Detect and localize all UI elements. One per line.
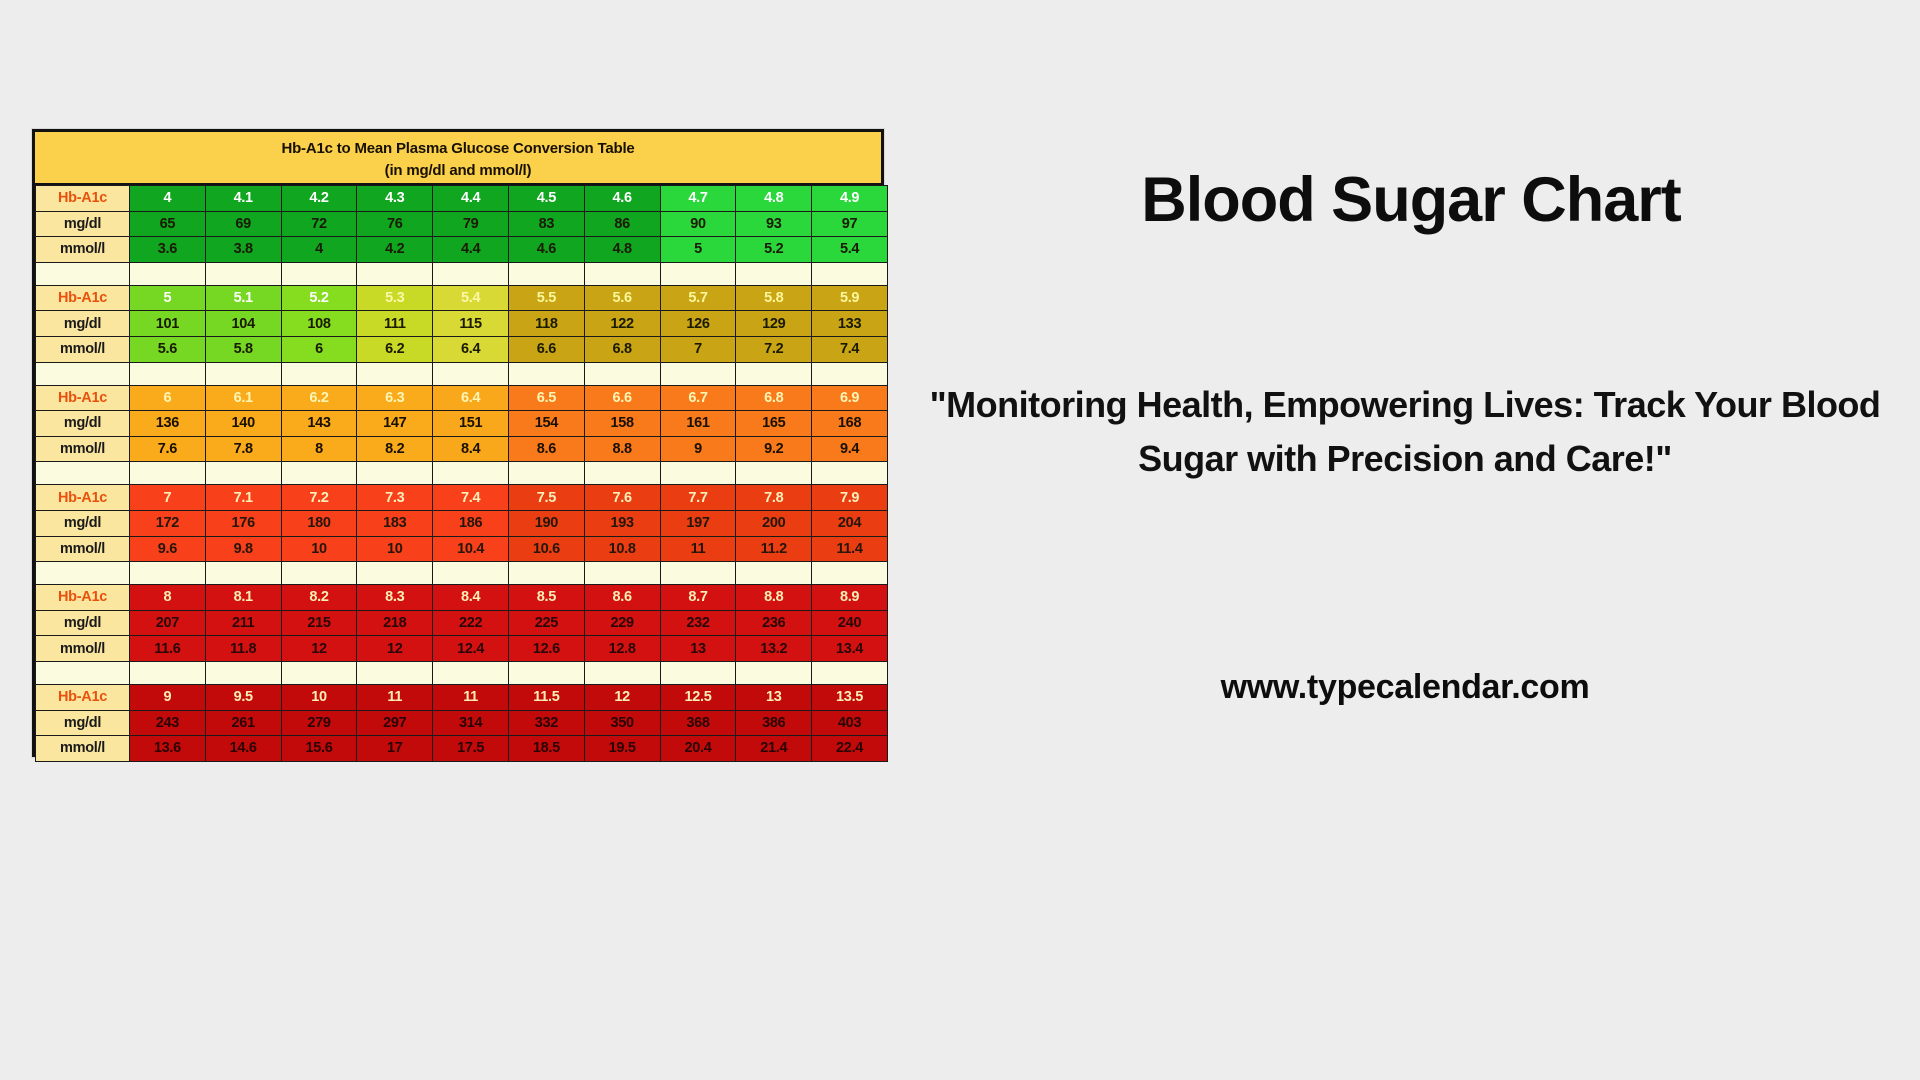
row-label-mmol: mmol/l [36,636,130,662]
cell-mgdl: 225 [508,610,584,636]
spacer-cell [812,262,888,285]
cell-mmol: 11 [660,536,736,562]
cell-a1c: 5.8 [736,285,812,311]
cell-a1c: 13 [736,684,812,710]
table-row: Hb-A1c77.17.27.37.47.57.67.77.87.9 [36,485,888,511]
cell-a1c: 8.8 [736,585,812,611]
spacer-cell [433,262,509,285]
spacer-cell [660,661,736,684]
cell-mgdl: 176 [205,510,281,536]
cell-mgdl: 86 [584,211,660,237]
row-label-mmol: mmol/l [36,336,130,362]
table-row: Hb-A1c66.16.26.36.46.56.66.76.86.9 [36,385,888,411]
cell-mgdl: 76 [357,211,433,237]
cell-mmol: 7 [660,336,736,362]
cell-mgdl: 243 [130,710,206,736]
row-label-mmol: mmol/l [36,237,130,263]
spacer-cell [281,661,357,684]
spacer-cell [736,562,812,585]
conversion-table: Hb-A1c44.14.24.34.44.54.64.74.84.9mg/dl6… [35,185,888,762]
cell-a1c: 5.7 [660,285,736,311]
cell-mmol: 12.6 [508,636,584,662]
spacer-cell [812,362,888,385]
table-row: mmol/l7.67.888.28.48.68.899.29.4 [36,436,888,462]
cell-mgdl: 136 [130,411,206,437]
cell-mmol: 8 [281,436,357,462]
cell-mgdl: 200 [736,510,812,536]
spacer-cell [130,362,206,385]
cell-mgdl: 197 [660,510,736,536]
cell-a1c: 6.3 [357,385,433,411]
cell-a1c: 6.9 [812,385,888,411]
cell-mgdl: 261 [205,710,281,736]
cell-mmol: 8.2 [357,436,433,462]
cell-mmol: 6.4 [433,336,509,362]
spacer-cell [433,661,509,684]
cell-a1c: 8.6 [584,585,660,611]
cell-mgdl: 279 [281,710,357,736]
table-row: mmol/l5.65.866.26.46.66.877.27.4 [36,336,888,362]
spacer-cell [36,661,130,684]
cell-a1c: 6.1 [205,385,281,411]
cell-a1c: 6.5 [508,385,584,411]
spacer-cell [130,562,206,585]
spacer-cell [36,262,130,285]
cell-mgdl: 190 [508,510,584,536]
spacer-cell [281,362,357,385]
cell-mmol: 5.6 [130,336,206,362]
cell-mmol: 12.4 [433,636,509,662]
table-row: Hb-A1c99.510111111.51212.51313.5 [36,684,888,710]
cell-mmol: 10 [281,536,357,562]
cell-mgdl: 193 [584,510,660,536]
spacer-cell [205,661,281,684]
spacer-cell [433,462,509,485]
cell-a1c: 8.3 [357,585,433,611]
cell-mmol: 9.8 [205,536,281,562]
cell-mmol: 11.4 [812,536,888,562]
spacer-cell [433,562,509,585]
cell-mmol: 12.8 [584,636,660,662]
cell-mmol: 6.8 [584,336,660,362]
cell-mgdl: 143 [281,411,357,437]
spacer-cell [812,661,888,684]
cell-mgdl: 83 [508,211,584,237]
spacer-cell [812,462,888,485]
cell-mgdl: 332 [508,710,584,736]
cell-mmol: 7.6 [130,436,206,462]
cell-a1c: 6.4 [433,385,509,411]
cell-mgdl: 165 [736,411,812,437]
cell-mmol: 13 [660,636,736,662]
cell-a1c: 5.1 [205,285,281,311]
cell-mgdl: 172 [130,510,206,536]
spacer-cell [660,362,736,385]
cell-a1c: 9.5 [205,684,281,710]
spacer-cell [357,262,433,285]
cell-mgdl: 115 [433,311,509,337]
table-row: mg/dl243261279297314332350368386403 [36,710,888,736]
cell-mmol: 13.2 [736,636,812,662]
cell-mmol: 5.4 [812,237,888,263]
spacer-cell [205,362,281,385]
cell-mgdl: 97 [812,211,888,237]
cell-mmol: 10.4 [433,536,509,562]
spacer-cell [584,262,660,285]
cell-mgdl: 207 [130,610,206,636]
cell-a1c: 7.3 [357,485,433,511]
cell-a1c: 11 [433,684,509,710]
spacer-cell [205,262,281,285]
cell-mgdl: 218 [357,610,433,636]
cell-mgdl: 90 [660,211,736,237]
cell-a1c: 6.8 [736,385,812,411]
cell-a1c: 5.3 [357,285,433,311]
spacer-cell [433,362,509,385]
cell-a1c: 12 [584,684,660,710]
poster-canvas: Hb-A1c to Mean Plasma Glucose Conversion… [0,0,1920,1080]
cell-mmol: 3.8 [205,237,281,263]
cell-mmol: 6.2 [357,336,433,362]
cell-mmol: 7.4 [812,336,888,362]
cell-mgdl: 93 [736,211,812,237]
page-title: Blood Sugar Chart [916,167,1906,233]
cell-a1c: 13.5 [812,684,888,710]
cell-mmol: 14.6 [205,736,281,762]
cell-a1c: 8.1 [205,585,281,611]
table-row: Hb-A1c55.15.25.35.45.55.65.75.85.9 [36,285,888,311]
cell-mgdl: 72 [281,211,357,237]
cell-mgdl: 180 [281,510,357,536]
cell-mgdl: 79 [433,211,509,237]
spacer-cell [660,562,736,585]
cell-mmol: 20.4 [660,736,736,762]
cell-mgdl: 368 [660,710,736,736]
cell-a1c: 5.4 [433,285,509,311]
row-label-a1c: Hb-A1c [36,585,130,611]
conversion-table-body: Hb-A1c44.14.24.34.44.54.64.74.84.9mg/dl6… [36,186,888,762]
cell-mmol: 3.6 [130,237,206,263]
row-label-a1c: Hb-A1c [36,485,130,511]
cell-mmol: 13.4 [812,636,888,662]
cell-mmol: 4.4 [433,237,509,263]
table-row: mmol/l9.69.8101010.410.610.81111.211.4 [36,536,888,562]
table-row: mmol/l3.63.844.24.44.64.855.25.4 [36,237,888,263]
table-row: Hb-A1c44.14.24.34.44.54.64.74.84.9 [36,186,888,212]
cell-a1c: 4.1 [205,186,281,212]
cell-mmol: 6.6 [508,336,584,362]
cell-mgdl: 232 [660,610,736,636]
cell-a1c: 4.2 [281,186,357,212]
spacer-cell [281,262,357,285]
table-spacer-row [36,262,888,285]
cell-a1c: 8.7 [660,585,736,611]
spacer-cell [660,262,736,285]
cell-a1c: 8 [130,585,206,611]
cell-mgdl: 111 [357,311,433,337]
cell-mmol: 4.2 [357,237,433,263]
table-title-bar: Hb-A1c to Mean Plasma Glucose Conversion… [35,132,881,185]
cell-a1c: 6.6 [584,385,660,411]
cell-mgdl: 122 [584,311,660,337]
cell-mgdl: 350 [584,710,660,736]
row-label-a1c: Hb-A1c [36,385,130,411]
row-label-a1c: Hb-A1c [36,285,130,311]
row-label-a1c: Hb-A1c [36,186,130,212]
cell-mgdl: 108 [281,311,357,337]
spacer-cell [508,262,584,285]
spacer-cell [205,562,281,585]
cell-mmol: 21.4 [736,736,812,762]
cell-mmol: 17 [357,736,433,762]
cell-a1c: 7.4 [433,485,509,511]
cell-mmol: 4.6 [508,237,584,263]
spacer-cell [357,562,433,585]
cell-mmol: 10.8 [584,536,660,562]
cell-mgdl: 129 [736,311,812,337]
spacer-cell [584,362,660,385]
cell-a1c: 7.6 [584,485,660,511]
cell-mmol: 15.6 [281,736,357,762]
cell-a1c: 5.2 [281,285,357,311]
cell-a1c: 7.9 [812,485,888,511]
cell-a1c: 11 [357,684,433,710]
table-title-line-2: (in mg/dl and mmol/l) [35,160,881,182]
spacer-cell [660,462,736,485]
cell-mgdl: 183 [357,510,433,536]
table-spacer-row [36,462,888,485]
table-spacer-row [36,562,888,585]
cell-mmol: 8.8 [584,436,660,462]
cell-a1c: 7.7 [660,485,736,511]
cell-mgdl: 168 [812,411,888,437]
row-label-mgdl: mg/dl [36,710,130,736]
cell-a1c: 7.2 [281,485,357,511]
row-label-a1c: Hb-A1c [36,684,130,710]
cell-mmol: 12 [281,636,357,662]
spacer-cell [508,362,584,385]
cell-a1c: 4.6 [584,186,660,212]
row-label-mgdl: mg/dl [36,211,130,237]
table-row: mg/dl101104108111115118122126129133 [36,311,888,337]
table-row: mg/dl207211215218222225229232236240 [36,610,888,636]
cell-mmol: 8.4 [433,436,509,462]
spacer-cell [130,462,206,485]
spacer-cell [36,362,130,385]
cell-mgdl: 211 [205,610,281,636]
cell-a1c: 8.4 [433,585,509,611]
cell-mmol: 17.5 [433,736,509,762]
cell-mgdl: 147 [357,411,433,437]
website-url: www.typecalendar.com [900,668,1910,707]
spacer-cell [508,562,584,585]
cell-mmol: 5 [660,237,736,263]
cell-a1c: 10 [281,684,357,710]
cell-mmol: 7.8 [205,436,281,462]
spacer-cell [508,661,584,684]
cell-mmol: 5.8 [205,336,281,362]
cell-mgdl: 140 [205,411,281,437]
cell-mgdl: 186 [433,510,509,536]
table-row: mg/dl172176180183186190193197200204 [36,510,888,536]
cell-a1c: 12.5 [660,684,736,710]
cell-mmol: 9.6 [130,536,206,562]
spacer-cell [736,462,812,485]
cell-a1c: 6.2 [281,385,357,411]
cell-a1c: 4.4 [433,186,509,212]
spacer-cell [584,462,660,485]
table-row: Hb-A1c88.18.28.38.48.58.68.78.88.9 [36,585,888,611]
cell-mgdl: 65 [130,211,206,237]
cell-mgdl: 133 [812,311,888,337]
cell-mmol: 18.5 [508,736,584,762]
cell-a1c: 4.5 [508,186,584,212]
cell-mmol: 9.2 [736,436,812,462]
row-label-mgdl: mg/dl [36,510,130,536]
cell-a1c: 4.3 [357,186,433,212]
cell-mgdl: 158 [584,411,660,437]
cell-mgdl: 222 [433,610,509,636]
spacer-cell [357,362,433,385]
cell-a1c: 4 [130,186,206,212]
spacer-cell [130,262,206,285]
cell-a1c: 8.2 [281,585,357,611]
cell-mgdl: 215 [281,610,357,636]
cell-mmol: 22.4 [812,736,888,762]
cell-mmol: 11.6 [130,636,206,662]
table-title-line-1: Hb-A1c to Mean Plasma Glucose Conversion… [35,138,881,160]
cell-mgdl: 126 [660,311,736,337]
cell-a1c: 4.7 [660,186,736,212]
cell-mgdl: 236 [736,610,812,636]
cell-mgdl: 101 [130,311,206,337]
spacer-cell [357,661,433,684]
cell-a1c: 5.9 [812,285,888,311]
table-row: mg/dl65697276798386909397 [36,211,888,237]
cell-mmol: 6 [281,336,357,362]
cell-a1c: 4.8 [736,186,812,212]
spacer-cell [205,462,281,485]
spacer-cell [36,462,130,485]
cell-a1c: 6 [130,385,206,411]
spacer-cell [36,562,130,585]
row-label-mgdl: mg/dl [36,610,130,636]
cell-mmol: 7.2 [736,336,812,362]
spacer-cell [508,462,584,485]
spacer-cell [584,661,660,684]
cell-mmol: 11.2 [736,536,812,562]
cell-mgdl: 229 [584,610,660,636]
spacer-cell [281,562,357,585]
spacer-cell [357,462,433,485]
cell-mgdl: 161 [660,411,736,437]
cell-a1c: 5.5 [508,285,584,311]
cell-a1c: 4.9 [812,186,888,212]
row-label-mmol: mmol/l [36,536,130,562]
spacer-cell [736,661,812,684]
cell-mmol: 4.8 [584,237,660,263]
cell-mmol: 4 [281,237,357,263]
cell-mmol: 9 [660,436,736,462]
cell-a1c: 8.5 [508,585,584,611]
cell-mmol: 10.6 [508,536,584,562]
table-spacer-row [36,661,888,684]
cell-a1c: 5.6 [584,285,660,311]
spacer-cell [736,262,812,285]
cell-mgdl: 403 [812,710,888,736]
cell-a1c: 7.1 [205,485,281,511]
cell-a1c: 11.5 [508,684,584,710]
cell-mgdl: 104 [205,311,281,337]
row-label-mgdl: mg/dl [36,411,130,437]
tagline-quote: "Monitoring Health, Empowering Lives: Tr… [900,378,1910,486]
cell-mmol: 19.5 [584,736,660,762]
cell-mmol: 9.4 [812,436,888,462]
cell-mmol: 12 [357,636,433,662]
row-label-mmol: mmol/l [36,736,130,762]
cell-mgdl: 69 [205,211,281,237]
cell-mgdl: 154 [508,411,584,437]
cell-mgdl: 151 [433,411,509,437]
cell-mgdl: 240 [812,610,888,636]
row-label-mmol: mmol/l [36,436,130,462]
spacer-cell [812,562,888,585]
cell-a1c: 7.5 [508,485,584,511]
cell-mgdl: 297 [357,710,433,736]
table-row: mmol/l11.611.8121212.412.612.81313.213.4 [36,636,888,662]
spacer-cell [130,661,206,684]
spacer-cell [584,562,660,585]
cell-a1c: 9 [130,684,206,710]
row-label-mgdl: mg/dl [36,311,130,337]
cell-mmol: 5.2 [736,237,812,263]
table-row: mg/dl136140143147151154158161165168 [36,411,888,437]
spacer-cell [736,362,812,385]
cell-mgdl: 118 [508,311,584,337]
cell-mgdl: 386 [736,710,812,736]
cell-mmol: 11.8 [205,636,281,662]
table-row: mmol/l13.614.615.61717.518.519.520.421.4… [36,736,888,762]
cell-mgdl: 314 [433,710,509,736]
spacer-cell [281,462,357,485]
cell-a1c: 7.8 [736,485,812,511]
cell-mmol: 13.6 [130,736,206,762]
cell-a1c: 8.9 [812,585,888,611]
cell-a1c: 7 [130,485,206,511]
table-spacer-row [36,362,888,385]
cell-mgdl: 204 [812,510,888,536]
cell-mmol: 10 [357,536,433,562]
cell-mmol: 8.6 [508,436,584,462]
conversion-table-card: Hb-A1c to Mean Plasma Glucose Conversion… [32,129,884,757]
cell-a1c: 5 [130,285,206,311]
cell-a1c: 6.7 [660,385,736,411]
